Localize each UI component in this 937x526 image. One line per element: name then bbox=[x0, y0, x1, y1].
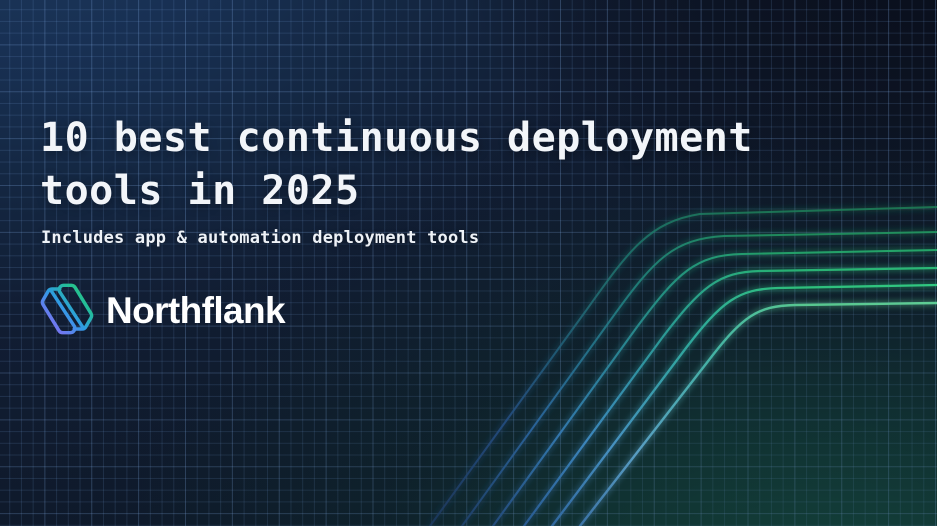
page-title: 10 best continuous deployment tools in 2… bbox=[40, 112, 900, 218]
northflank-logo-icon bbox=[40, 283, 94, 335]
brand-logo[interactable]: Northflank bbox=[40, 283, 285, 335]
page-subtitle: Includes app & automation deployment too… bbox=[41, 226, 479, 250]
brand-wordmark: Northflank bbox=[106, 292, 285, 329]
cover-content: 10 best continuous deployment tools in 2… bbox=[40, 0, 900, 526]
cover-card: 10 best continuous deployment tools in 2… bbox=[0, 0, 937, 526]
